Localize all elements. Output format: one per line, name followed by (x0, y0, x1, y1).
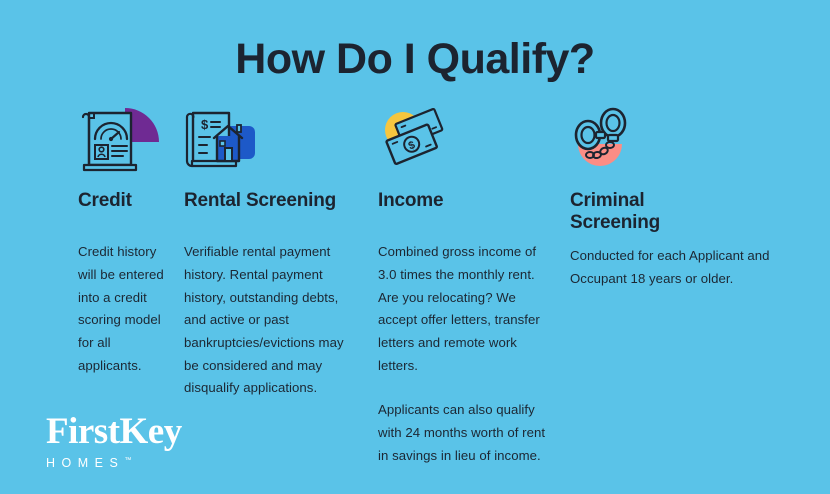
column-heading: Rental Screening (184, 190, 360, 212)
credit-report-icon (78, 104, 164, 174)
logo-subtitle-text: HOMES (46, 457, 124, 471)
rental-invoice-house-icon: $ (184, 104, 270, 174)
svg-text:$: $ (201, 117, 209, 132)
column-heading: Credit (78, 190, 164, 212)
page-title: How Do I Qualify? (0, 36, 830, 83)
column-criminal-screening: Criminal Screening Conducted for each Ap… (570, 104, 830, 291)
logo-subtitle: HOMES™ (46, 457, 182, 470)
column-heading: Criminal Screening (570, 190, 816, 234)
column-paragraph: Combined gross income of 3.0 times the m… (378, 241, 556, 377)
column-paragraph: Verifiable rental payment history. Renta… (184, 241, 360, 400)
logo-trademark-icon: ™ (124, 457, 131, 464)
logo-wordmark: FirstKey (46, 413, 182, 450)
column-paragraph-secondary: Applicants can also qualify with 24 mont… (378, 399, 556, 467)
infographic-page: How Do I Qualify? (0, 0, 830, 494)
cash-banknotes-icon: $ (378, 104, 464, 174)
column-income: $ Income Combined gross income of 3.0 ti… (374, 104, 570, 468)
column-credit: Credit Credit history will be entered in… (0, 104, 178, 377)
handcuffs-icon (570, 104, 656, 174)
column-paragraph: Credit history will be entered into a cr… (78, 241, 164, 377)
column-rental-screening: $ Rental Screening Verifiable rental pay (178, 104, 374, 400)
column-heading: Income (378, 190, 556, 212)
column-paragraph: Conducted for each Applicant and Occupan… (570, 245, 816, 290)
firstkey-homes-logo: FirstKey HOMES™ (46, 413, 182, 470)
